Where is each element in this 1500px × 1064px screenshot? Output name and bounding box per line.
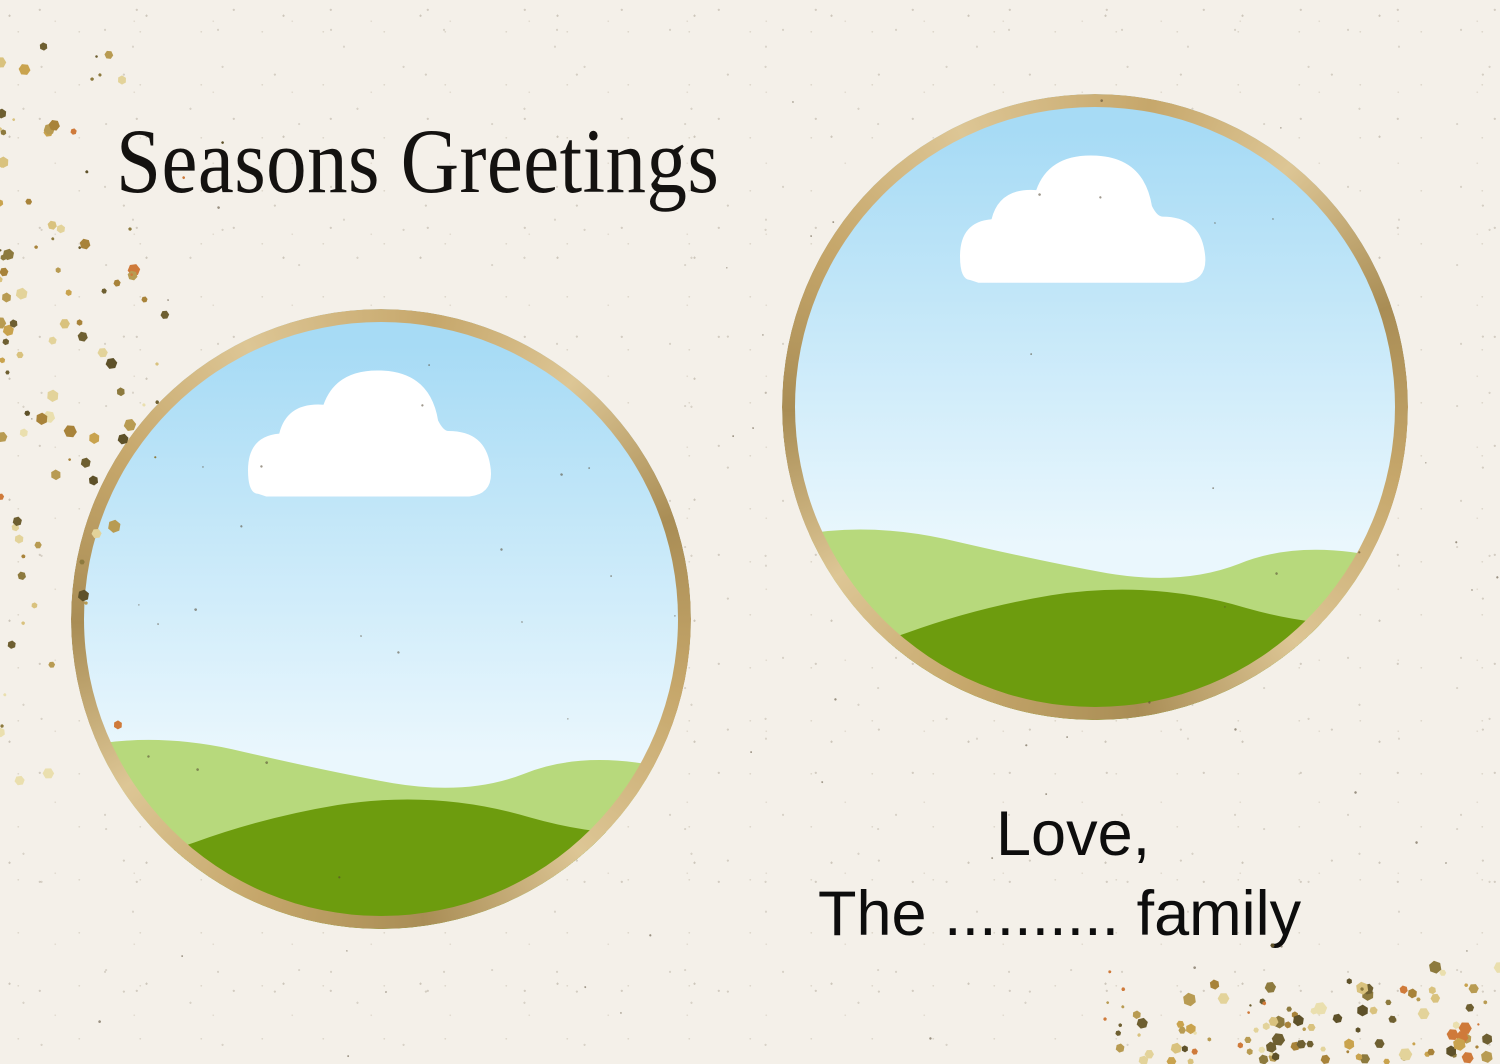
landscape-scene-content-left [71, 309, 691, 929]
confetti-flake [1354, 791, 1358, 795]
confetti-flake [1168, 1041, 1183, 1056]
confetti-flake [0, 160, 6, 170]
confetti-flake [347, 1054, 350, 1057]
confetti-flake [1102, 1016, 1107, 1021]
confetti-flake [0, 254, 7, 262]
confetti-flake [1025, 744, 1028, 747]
confetti-flake [1386, 1014, 1398, 1026]
confetti-flake [1294, 1037, 1308, 1051]
confetti-flake [1283, 1020, 1293, 1030]
confetti-flake [41, 125, 55, 139]
confetti-flake [1384, 998, 1393, 1007]
confetti-flake [1178, 1026, 1186, 1034]
confetti-flake [1131, 1010, 1141, 1020]
confetti-flake [56, 224, 67, 235]
confetti-flake [12, 117, 17, 122]
confetti-flake [50, 236, 55, 241]
confetti-flake [1415, 996, 1421, 1002]
confetti-flake [181, 955, 184, 958]
confetti-flake [100, 287, 107, 294]
confetti-flake [1372, 1036, 1387, 1051]
confetti-flake [1289, 1039, 1302, 1052]
confetti-flake [1495, 576, 1498, 579]
confetti-flake [1397, 983, 1410, 996]
confetti-flake [1361, 988, 1375, 1002]
confetti-flake [1445, 862, 1447, 864]
confetti-flake [1454, 541, 1457, 544]
confetti-flake [46, 116, 64, 134]
confetti-flake [1114, 1030, 1122, 1038]
confetti-flake [1265, 1014, 1280, 1029]
confetti-flake [1272, 1036, 1282, 1046]
confetti-flake [1477, 1047, 1496, 1064]
confetti-flake [58, 318, 70, 330]
confetti-flake [0, 128, 8, 137]
confetti-flake [127, 226, 133, 232]
confetti-flake [1356, 1004, 1369, 1017]
confetti-flake [1395, 1045, 1415, 1064]
confetti-flake [1456, 1018, 1476, 1038]
confetti-flake [928, 1036, 932, 1040]
confetti-flake [0, 126, 3, 131]
confetti-flake [1269, 1051, 1275, 1057]
confetti-flake [1302, 1026, 1307, 1031]
confetti-flake [5, 370, 10, 375]
confetti-flake [1449, 1034, 1470, 1055]
confetti-flake [45, 217, 60, 232]
confetti-flake [1306, 1022, 1318, 1034]
confetti-flake [1346, 1050, 1350, 1054]
confetti-flake [1443, 1043, 1460, 1060]
confetti-flake [94, 54, 98, 58]
confetti-flake [1341, 1036, 1358, 1053]
confetti-flake [24, 196, 34, 206]
confetti-flake [1108, 969, 1112, 973]
confetti-flake [1406, 986, 1420, 1000]
confetti-flake [46, 660, 56, 670]
confetti-flake [1117, 1022, 1123, 1028]
confetti-flake [1415, 840, 1419, 844]
confetti-flake [1193, 1031, 1198, 1036]
confetti-flake [14, 286, 29, 301]
confetti-flake [69, 128, 78, 137]
confetti-flake [345, 949, 347, 951]
confetti-flake [112, 278, 121, 287]
confetti-flake [115, 73, 129, 87]
landscape-circle-left [71, 309, 691, 929]
confetti-flake [1263, 980, 1277, 994]
confetti-flake [385, 991, 387, 993]
confetti-flake [1417, 1007, 1431, 1021]
confetti-flake [33, 245, 38, 250]
confetti-flake [1268, 1029, 1289, 1050]
confetti-flake [1, 247, 16, 262]
confetti-flake [48, 466, 64, 482]
confetti-flake [1137, 1033, 1142, 1038]
confetti-flake [1236, 1041, 1245, 1050]
confetti-flake [43, 387, 61, 405]
confetti-flake [1174, 1018, 1186, 1030]
confetti-flake [1354, 1025, 1362, 1033]
confetti-flake [1459, 1031, 1474, 1046]
confetti-flake [1422, 1050, 1431, 1059]
confetti-flake [1425, 461, 1427, 463]
confetti-flake [0, 275, 4, 284]
confetti-flake [991, 856, 994, 859]
confetti-flake [1248, 1003, 1251, 1006]
cloud-icon [960, 153, 1223, 291]
confetti-flake [649, 934, 652, 937]
landscape-scene-content-right [782, 94, 1408, 720]
confetti-flake [1311, 999, 1330, 1018]
confetti-flake [1452, 1027, 1472, 1047]
confetti-flake [167, 299, 170, 302]
confetti-flake [1425, 957, 1445, 977]
confetti-flake [750, 751, 753, 754]
confetti-flake [6, 639, 17, 650]
confetti-flake [11, 514, 24, 527]
confetti-flake [1261, 1001, 1267, 1007]
confetti-flake [1217, 992, 1230, 1005]
confetti-flake [1259, 997, 1267, 1005]
confetti-flake [1286, 1005, 1293, 1012]
confetti-flake [761, 334, 763, 336]
confetti-flake [0, 249, 2, 253]
confetti-flake [1368, 1005, 1379, 1016]
confetti-flake [1185, 1023, 1197, 1035]
confetti-flake [1354, 1052, 1365, 1063]
confetti-flake [1245, 1047, 1255, 1057]
confetti-flake [31, 418, 33, 420]
confetti-flake [39, 765, 56, 782]
confetti-flake [1425, 1047, 1436, 1058]
confetti-flake [64, 288, 74, 298]
confetti-flake [2, 693, 7, 698]
confetti-flake [47, 335, 58, 346]
confetti-flake [1304, 1039, 1315, 1050]
confetti-flake [1144, 1049, 1155, 1060]
confetti-flake [23, 409, 31, 417]
confetti-flake [1479, 1030, 1496, 1047]
confetti-flake [1137, 1054, 1150, 1064]
confetti-flake [7, 317, 20, 330]
greeting-headline: Seasons Greetings [116, 108, 719, 214]
confetti-flake [141, 295, 149, 303]
confetti-flake [14, 349, 25, 360]
confetti-flake [1252, 1026, 1259, 1033]
signoff-line-love: Love, [996, 798, 1150, 870]
confetti-flake [1044, 792, 1047, 795]
confetti-flake [10, 521, 22, 533]
confetti-flake [15, 60, 33, 78]
confetti-flake [32, 410, 50, 428]
confetti-flake [0, 54, 9, 71]
signoff-line-family: The .......... family [818, 878, 1301, 950]
confetti-flake [0, 197, 6, 208]
confetti-flake [1270, 1012, 1290, 1032]
confetti-flake [1066, 735, 1069, 738]
hills-illustration-left [71, 681, 691, 929]
confetti-flake [1270, 1051, 1282, 1063]
confetti-flake [1309, 1007, 1319, 1017]
landscape-circle-right [782, 94, 1408, 720]
confetti-flake [0, 492, 5, 500]
confetti-flake [78, 246, 83, 251]
confetti-flake [1262, 1038, 1279, 1055]
confetti-flake [1180, 1043, 1191, 1054]
confetti-flake [1466, 950, 1468, 952]
confetti-flake [90, 77, 94, 81]
confetti-flake [1443, 1025, 1461, 1043]
greeting-card: Seasons Greetings Love, The .......... f… [0, 0, 1500, 1064]
confetti-flake [1356, 1051, 1372, 1064]
confetti-flake [0, 322, 16, 338]
confetti-flake [1475, 1044, 1479, 1048]
confetti-flake [1493, 961, 1500, 975]
confetti-flake [1464, 1001, 1476, 1013]
confetti-flake [15, 569, 29, 583]
confetti-flake [1458, 1049, 1477, 1064]
confetti-flake [1120, 1004, 1125, 1009]
confetti-flake [619, 1011, 621, 1013]
confetti-flake [731, 435, 734, 438]
confetti-flake [1121, 987, 1126, 992]
confetti-flake [1207, 976, 1223, 992]
confetti-flake [54, 266, 63, 275]
confetti-flake [42, 122, 57, 137]
confetti-flake [1134, 1016, 1149, 1031]
confetti-flake [1471, 588, 1474, 591]
confetti-flake [1179, 989, 1200, 1010]
confetti-flake [1193, 966, 1197, 970]
confetti-flake [20, 554, 26, 560]
cloud-icon [248, 368, 508, 504]
confetti-flake [1466, 981, 1481, 996]
confetti-flake [125, 261, 143, 279]
confetti-flake [1381, 1057, 1391, 1064]
confetti-flake [1105, 1001, 1110, 1006]
confetti-flake [1450, 1051, 1457, 1058]
confetti-flake [1359, 986, 1365, 992]
hills-illustration-right [782, 470, 1408, 720]
confetti-flake [1233, 727, 1237, 731]
confetti-flake [1, 337, 10, 346]
confetti-flake [34, 541, 42, 549]
confetti-flake [0, 313, 10, 332]
confetti-flake [98, 1020, 101, 1023]
confetti-flake [1430, 993, 1441, 1004]
confetti-flake [76, 236, 93, 253]
confetti-flake [1451, 1020, 1462, 1031]
confetti-flake [1206, 1036, 1213, 1043]
confetti-flake [1290, 1010, 1300, 1020]
confetti-flake [583, 986, 586, 989]
confetti-flake [37, 41, 50, 54]
confetti-flake [125, 268, 141, 284]
confetti-flake [1255, 1052, 1271, 1064]
confetti-flake [1361, 982, 1376, 997]
confetti-flake [1247, 1011, 1251, 1015]
confetti-flake [1463, 982, 1469, 988]
confetti-flake [1319, 1053, 1332, 1064]
confetti-flake [97, 72, 102, 77]
confetti-flake [1438, 967, 1448, 977]
confetti-flake [752, 427, 755, 430]
confetti-flake [726, 267, 728, 269]
confetti-flake [13, 533, 24, 544]
confetti-flake [1352, 979, 1372, 999]
confetti-flake [1165, 1056, 1176, 1064]
confetti-flake [1344, 977, 1353, 986]
confetti-flake [1411, 1041, 1416, 1046]
confetti-flake [20, 620, 26, 626]
confetti-flake [130, 273, 134, 277]
confetti-flake [85, 169, 90, 174]
confetti-flake [1319, 1045, 1327, 1053]
confetti-flake [0, 107, 8, 119]
confetti-flake [1390, 1016, 1398, 1024]
confetti-flake [0, 725, 8, 740]
confetti-flake [17, 427, 30, 440]
confetti-flake [1331, 1012, 1345, 1026]
confetti-flake [39, 407, 59, 427]
confetti-flake [1266, 1049, 1281, 1064]
confetti-flake [1113, 1042, 1126, 1055]
confetti-flake [1290, 1012, 1307, 1029]
confetti-flake [12, 773, 27, 788]
confetti-flake [0, 154, 12, 171]
confetti-flake [0, 60, 5, 69]
confetti-flake [1426, 984, 1438, 996]
confetti-flake [0, 356, 7, 364]
confetti-flake [1399, 1051, 1410, 1062]
confetti-flake [0, 290, 14, 305]
confetti-flake [102, 48, 115, 61]
confetti-flake [0, 267, 9, 278]
confetti-flake [0, 429, 9, 445]
confetti-flake [820, 781, 823, 784]
confetti-flake [0, 723, 5, 728]
confetti-flake [1243, 1034, 1254, 1045]
confetti-flake [1185, 1056, 1195, 1064]
confetti-flake [1477, 1023, 1480, 1026]
confetti-flake [1190, 1047, 1198, 1055]
confetti-flake [1262, 1022, 1271, 1031]
confetti-flake [30, 601, 38, 609]
confetti-flake [1257, 1045, 1267, 1055]
confetti-flake [1482, 999, 1488, 1005]
